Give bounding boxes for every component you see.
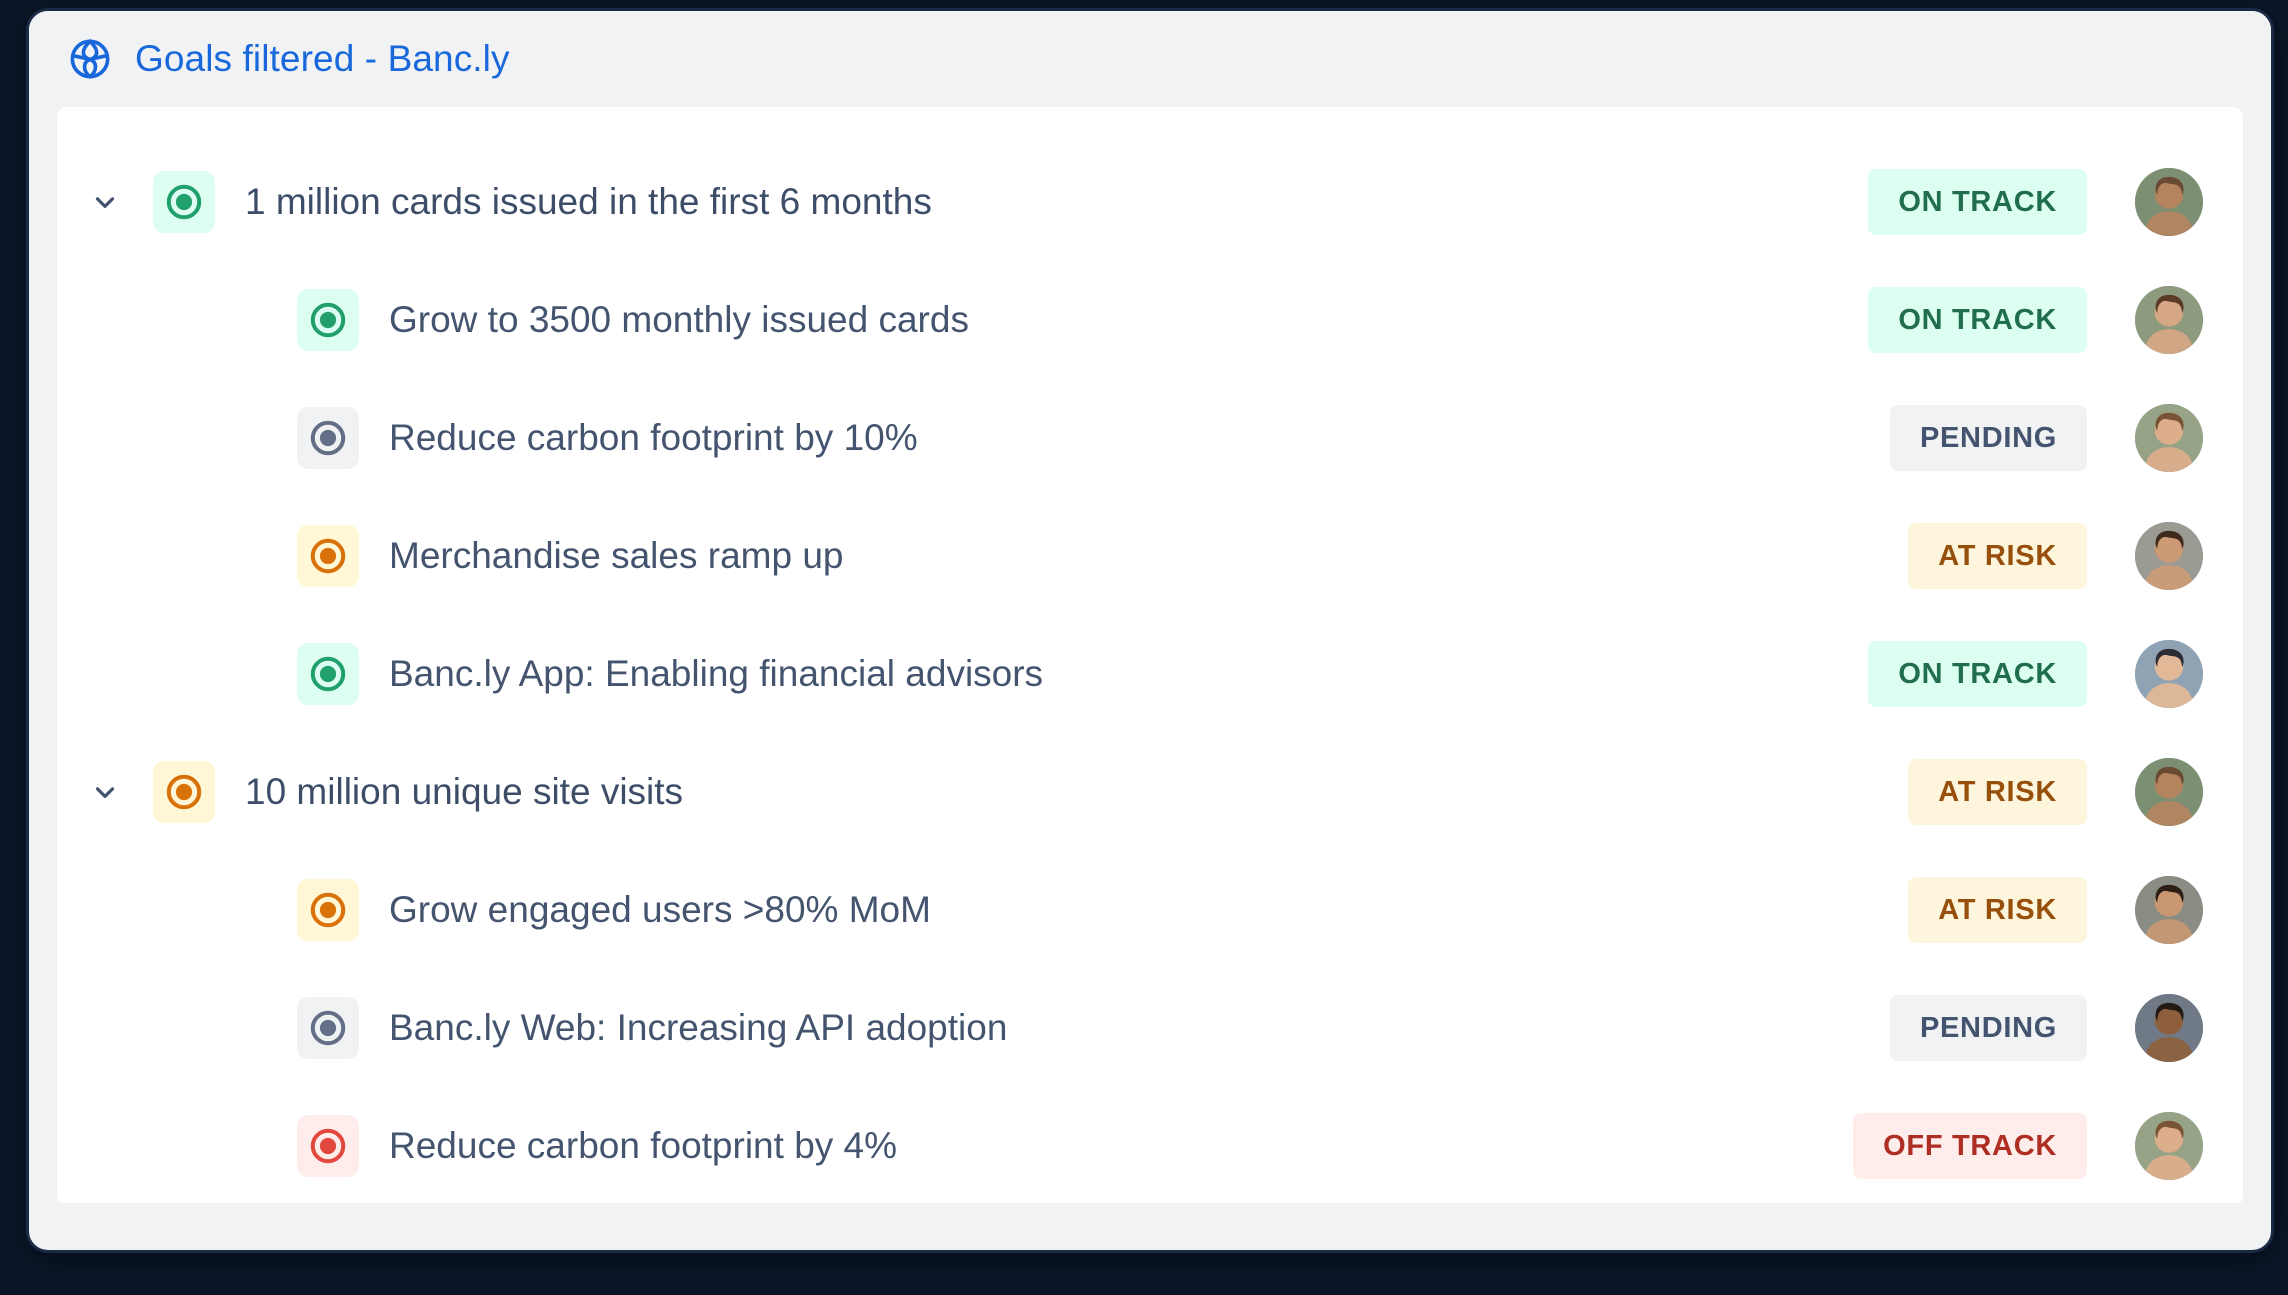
owner-avatar[interactable] xyxy=(2135,876,2203,944)
status-badge[interactable]: ON TRACK xyxy=(1868,641,2087,707)
owner-avatar[interactable] xyxy=(2135,286,2203,354)
target-icon xyxy=(297,879,359,941)
goal-title-link[interactable]: Banc.ly App: Enabling financial advisors xyxy=(389,653,1868,695)
status-badge[interactable]: ON TRACK xyxy=(1868,287,2087,353)
owner-avatar[interactable] xyxy=(2135,404,2203,472)
expand-collapse-chevron-down-icon[interactable] xyxy=(57,187,153,217)
target-icon xyxy=(297,643,359,705)
target-icon xyxy=(297,997,359,1059)
goal-row-child[interactable]: Merchandise sales ramp upAT RISK xyxy=(57,497,2243,615)
status-badge[interactable]: AT RISK xyxy=(1908,877,2087,943)
goals-window: Goals filtered - Banc.ly 1 million cards… xyxy=(26,8,2274,1253)
goal-row-child[interactable]: Grow to 3500 monthly issued cardsON TRAC… xyxy=(57,261,2243,379)
expand-collapse-chevron-down-icon[interactable] xyxy=(57,777,153,807)
goal-row-child[interactable]: Grow engaged users >80% MoMAT RISK xyxy=(57,851,2243,969)
atlas-globe-icon xyxy=(67,36,113,82)
goal-title-link[interactable]: Reduce carbon footprint by 10% xyxy=(389,417,1890,459)
goals-panel: 1 million cards issued in the first 6 mo… xyxy=(57,107,2243,1203)
goal-title-link[interactable]: Banc.ly Web: Increasing API adoption xyxy=(389,1007,1890,1049)
goal-row-parent[interactable]: 1 million cards issued in the first 6 mo… xyxy=(57,143,2243,261)
goal-row-child[interactable]: Reduce carbon footprint by 4%OFF TRACK xyxy=(57,1087,2243,1203)
goal-title-link[interactable]: Grow engaged users >80% MoM xyxy=(389,889,1908,931)
goal-row-child[interactable]: Banc.ly Web: Increasing API adoptionPEND… xyxy=(57,969,2243,1087)
status-badge[interactable]: OFF TRACK xyxy=(1853,1113,2087,1179)
goal-row-parent[interactable]: 10 million unique site visitsAT RISK xyxy=(57,733,2243,851)
status-badge[interactable]: PENDING xyxy=(1890,405,2087,471)
status-badge[interactable]: AT RISK xyxy=(1908,759,2087,825)
goal-title-link[interactable]: Grow to 3500 monthly issued cards xyxy=(389,299,1868,341)
goal-title-link[interactable]: Merchandise sales ramp up xyxy=(389,535,1908,577)
target-icon xyxy=(153,171,215,233)
target-icon xyxy=(153,761,215,823)
owner-avatar[interactable] xyxy=(2135,1112,2203,1180)
target-icon xyxy=(297,289,359,351)
target-icon xyxy=(297,1115,359,1177)
owner-avatar[interactable] xyxy=(2135,168,2203,236)
goal-row-child[interactable]: Banc.ly App: Enabling financial advisors… xyxy=(57,615,2243,733)
target-icon xyxy=(297,525,359,587)
goal-title-link[interactable]: Reduce carbon footprint by 4% xyxy=(389,1125,1853,1167)
status-badge[interactable]: AT RISK xyxy=(1908,523,2087,589)
owner-avatar[interactable] xyxy=(2135,758,2203,826)
status-badge[interactable]: ON TRACK xyxy=(1868,169,2087,235)
owner-avatar[interactable] xyxy=(2135,994,2203,1062)
goal-title-link[interactable]: 1 million cards issued in the first 6 mo… xyxy=(245,181,1868,223)
goal-row-child[interactable]: Reduce carbon footprint by 10%PENDING xyxy=(57,379,2243,497)
goal-title-link[interactable]: 10 million unique site visits xyxy=(245,771,1908,813)
goals-list: 1 million cards issued in the first 6 mo… xyxy=(57,143,2243,1203)
status-badge[interactable]: PENDING xyxy=(1890,995,2087,1061)
desktop-backdrop: Goals filtered - Banc.ly 1 million cards… xyxy=(0,0,2288,1295)
page-title: Goals filtered - Banc.ly xyxy=(135,38,510,80)
owner-avatar[interactable] xyxy=(2135,640,2203,708)
target-icon xyxy=(297,407,359,469)
window-header: Goals filtered - Banc.ly xyxy=(29,11,2271,107)
owner-avatar[interactable] xyxy=(2135,522,2203,590)
